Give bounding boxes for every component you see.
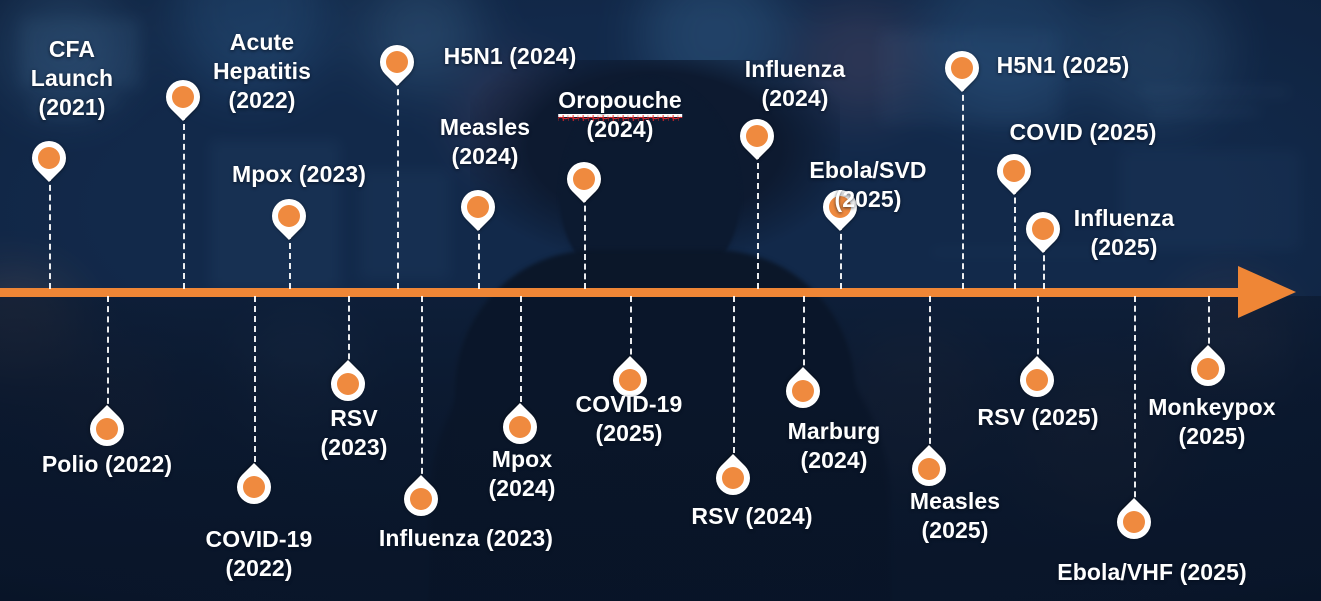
label-line: Launch <box>31 64 113 93</box>
label-line: Mpox (2023) <box>232 160 366 189</box>
marker-label-covid-19-2025: COVID-19(2025) <box>576 390 683 448</box>
spellcheck-word: Oropouche <box>558 87 682 117</box>
pin-dot <box>504 411 535 442</box>
label-line: (2022) <box>213 86 311 115</box>
marker-stem-influenza-2023 <box>421 296 423 484</box>
timeline-arrow-head-icon <box>1238 266 1296 318</box>
marker-stem-covid-19-2022 <box>254 296 256 472</box>
pin-dot <box>998 155 1029 186</box>
marker-stem-mpox-2023 <box>289 233 291 289</box>
pin-dot <box>273 200 304 231</box>
label-line: (2022) <box>206 554 313 583</box>
label-line: Monkeypox <box>1148 393 1275 422</box>
label-line: (2025) <box>809 185 926 214</box>
label-line: (2025) <box>1074 233 1175 262</box>
label-line: (2024) <box>788 446 881 475</box>
marker-stem-h5n1-2024 <box>397 79 399 289</box>
marker-stem-cfa-launch-2021 <box>49 175 51 289</box>
label-line: Measles <box>910 487 1000 516</box>
label-line: COVID-19 <box>576 390 683 419</box>
marker-label-measles-2025: Measles(2025) <box>910 487 1000 545</box>
marker-label-cfa-launch-2021: CFALaunch(2021) <box>31 35 113 122</box>
spellcheck-squiggle-icon <box>558 115 682 121</box>
pin-dot <box>787 375 818 406</box>
label-line: (2023) <box>320 433 387 462</box>
label-line: Influenza (2023) <box>379 524 553 553</box>
label-line: Polio (2022) <box>42 450 172 479</box>
pin-dot <box>167 81 198 112</box>
pin-dot <box>238 471 269 502</box>
pin-dot <box>1027 213 1058 244</box>
label-line: RSV (2025) <box>977 403 1098 432</box>
label-line: (2024) <box>745 84 846 113</box>
pin-dot <box>381 46 412 77</box>
pin-dot <box>913 453 944 484</box>
label-line: (2021) <box>31 93 113 122</box>
label-line: RSV <box>320 404 387 433</box>
pin-dot <box>91 413 122 444</box>
label-line: RSV (2024) <box>691 502 812 531</box>
pin-dot <box>405 483 436 514</box>
label-line: Ebola/SVD <box>809 156 926 185</box>
marker-stem-polio-2022 <box>107 296 109 414</box>
marker-label-covid-19-2022: COVID-19(2022) <box>206 525 313 583</box>
marker-stem-oropouche-2024 <box>584 196 586 289</box>
marker-stem-acute-hepatitis-2022 <box>183 114 185 289</box>
pin-dot <box>717 462 748 493</box>
label-line: Hepatitis <box>213 57 311 86</box>
marker-label-mpox-2024: Mpox(2024) <box>488 445 555 503</box>
pin-dot <box>946 52 977 83</box>
marker-stem-rsv-2024 <box>733 296 735 463</box>
marker-label-h5n1-2024: H5N1 (2024) <box>444 42 577 71</box>
pin-dot <box>1118 506 1149 537</box>
marker-stem-measles-2024 <box>478 224 480 289</box>
label-line: COVID (2025) <box>1010 118 1157 147</box>
marker-stem-rsv-2025 <box>1037 296 1039 365</box>
pin-dot <box>568 163 599 194</box>
pin-dot <box>332 368 363 399</box>
label-line: H5N1 (2024) <box>444 42 577 71</box>
marker-label-influenza-2024: Influenza(2024) <box>745 55 846 113</box>
label-line: COVID-19 <box>206 525 313 554</box>
label-line: Influenza <box>1074 204 1175 233</box>
marker-stem-measles-2025 <box>929 296 931 454</box>
pin-dot <box>741 120 772 151</box>
pin-dot <box>462 191 493 222</box>
marker-label-rsv-2023: RSV(2023) <box>320 404 387 462</box>
marker-label-ebola-svd-2025: Ebola/SVD(2025) <box>809 156 926 214</box>
marker-label-acute-hepatitis-2022: AcuteHepatitis(2022) <box>213 28 311 115</box>
marker-label-covid-2025: COVID (2025) <box>1010 118 1157 147</box>
marker-label-rsv-2025: RSV (2025) <box>977 403 1098 432</box>
pin-dot <box>33 142 64 173</box>
label-line: CFA <box>31 35 113 64</box>
marker-stem-mpox-2024 <box>520 296 522 412</box>
marker-label-ebola-vhf-2025: Ebola/VHF (2025) <box>1057 558 1247 587</box>
label-line: Acute <box>213 28 311 57</box>
marker-label-influenza-2023: Influenza (2023) <box>379 524 553 553</box>
marker-stem-covid-2025 <box>1014 188 1016 289</box>
marker-label-h5n1-2025: H5N1 (2025) <box>997 51 1130 80</box>
pin-dot <box>1021 364 1052 395</box>
timeline-infographic: CFALaunch(2021)Polio (2022)AcuteHepatiti… <box>0 0 1321 601</box>
marker-label-polio-2022: Polio (2022) <box>42 450 172 479</box>
marker-label-mpox-2023: Mpox (2023) <box>232 160 366 189</box>
label-line: (2025) <box>910 516 1000 545</box>
marker-stem-influenza-2024 <box>757 153 759 289</box>
marker-label-rsv-2024: RSV (2024) <box>691 502 812 531</box>
label-line: (2024) <box>440 142 530 171</box>
marker-stem-ebola-vhf-2025 <box>1134 296 1136 507</box>
marker-stem-covid-19-2025 <box>630 296 632 365</box>
marker-label-monkeypox-2025: Monkeypox(2025) <box>1148 393 1275 451</box>
marker-stem-h5n1-2025 <box>962 85 964 289</box>
pin-dot <box>1192 353 1223 384</box>
marker-stem-ebola-svd-2025 <box>840 224 842 289</box>
label-line: Marburg <box>788 417 881 446</box>
marker-label-marburg-2024: Marburg(2024) <box>788 417 881 475</box>
label-line: Mpox <box>488 445 555 474</box>
timeline-axis-line <box>0 288 1240 297</box>
marker-stem-rsv-2023 <box>348 296 350 369</box>
label-line: (2025) <box>576 419 683 448</box>
label-line: (2024) <box>488 474 555 503</box>
marker-label-oropouche-2024: Oropouche(2024) <box>558 86 682 144</box>
label-line: Influenza <box>745 55 846 84</box>
label-line: Ebola/VHF (2025) <box>1057 558 1247 587</box>
label-line: Oropouche <box>558 86 682 115</box>
label-line: Measles <box>440 113 530 142</box>
label-line: (2025) <box>1148 422 1275 451</box>
marker-label-measles-2024: Measles(2024) <box>440 113 530 171</box>
label-line: H5N1 (2025) <box>997 51 1130 80</box>
marker-label-influenza-2025: Influenza(2025) <box>1074 204 1175 262</box>
marker-stem-marburg-2024 <box>803 296 805 376</box>
